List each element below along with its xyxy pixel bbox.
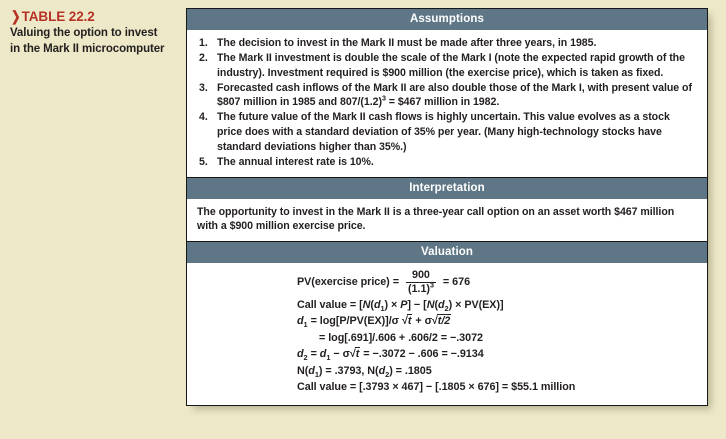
pv-result: 676 [452, 275, 470, 290]
pv-denominator-base: (1.1) [408, 283, 430, 295]
list-item: 1.The decision to invest in the Mark II … [197, 36, 697, 51]
d1-plus: + [415, 315, 421, 327]
assumptions-list: 1.The decision to invest in the Mark II … [197, 36, 697, 169]
cv-pvex: PV(EX) [464, 299, 500, 311]
d2-tail: = −.3072 − .606 = −.9134 [363, 348, 483, 360]
interpretation-body: The opportunity to invest in the Mark II… [187, 199, 707, 241]
equation-pv-exercise-price: PV(exercise price) = 900 (1.1)3 = 676 [297, 270, 597, 295]
d1-expr: log[P/PV(EX)]/σ [320, 315, 399, 327]
equation-d1-result: = log[.691]/.606 + .606/2 = −.3072 [297, 330, 597, 347]
cv-d1-close: ) [385, 299, 389, 311]
d2-sqrt-content: t [355, 347, 361, 360]
list-item-text: The Mark II investment is double the sca… [217, 52, 685, 79]
pv-equals: = [393, 275, 399, 290]
equation-call-value-formula: Call value = [N(d1) × P] − [N(d2) × PV(E… [297, 297, 597, 314]
valuation-equations: PV(exercise price) = 900 (1.1)3 = 676 Ca… [297, 270, 597, 396]
table: Assumptions 1.The decision to invest in … [186, 8, 708, 406]
table-caption: ❯TABLE 22.2 Valuing the option to invest… [10, 9, 170, 57]
list-item: 2.The Mark II investment is double the s… [197, 51, 697, 80]
list-item-number: 2. [199, 51, 213, 66]
valuation-header: Valuation [187, 241, 707, 263]
list-item: 3.Forecasted cash inflows of the Mark II… [197, 81, 697, 110]
d1-equals: = [311, 315, 317, 327]
d1-sqrt-1: √t [402, 313, 412, 330]
list-item-text: The annual interest rate is 10%. [217, 156, 374, 168]
pv-fraction: 900 (1.1)3 [406, 270, 436, 295]
table-number-label: TABLE 22.2 [22, 9, 95, 24]
pv-label: PV(exercise price) [297, 275, 390, 290]
n1-value: ) = .3793, [319, 365, 364, 377]
cv-close-bracket: ] [407, 299, 411, 311]
pv-numerator: 900 [410, 270, 432, 282]
list-item: 4.The future value of the Mark II cash f… [197, 110, 697, 154]
list-item-number: 5. [199, 155, 213, 170]
table-container: Assumptions 1.The decision to invest in … [186, 8, 708, 406]
d2-minus: − [333, 348, 339, 360]
cv-d2-close: ) [449, 299, 453, 311]
list-item-number: 3. [199, 81, 213, 96]
n1-label: N [297, 365, 305, 377]
d1-sqrt-2-content: t/2 [437, 314, 451, 327]
cv-minus: − [414, 299, 420, 311]
list-item: 5.The annual interest rate is 10%. [197, 155, 697, 170]
equation-d2: d2 = d1 − σ√t = −.3072 − .606 = −.9134 [297, 346, 597, 363]
call-value-label: Call value [297, 299, 347, 311]
d2-var-sub: 2 [304, 353, 308, 362]
pv-denominator-exponent: 3 [430, 280, 434, 289]
interpretation-header: Interpretation [187, 177, 707, 199]
d2-sigma: σ [343, 348, 350, 360]
cv-equals: = [350, 299, 356, 311]
cv-times-2: × [455, 299, 461, 311]
list-item-text-tail: = $467 million in 1982. [386, 96, 499, 108]
n2-label: N [367, 365, 375, 377]
pv-denominator: (1.1)3 [406, 282, 436, 295]
cv-times-1: × [391, 299, 397, 311]
cv-close-bracket-2: ] [500, 299, 504, 311]
list-item-text: The decision to invest in the Mark II mu… [217, 37, 596, 49]
d2-sqrt: √t [350, 346, 360, 363]
caption-marker-icon: ❯ [11, 9, 20, 24]
d2-d1-sub: 1 [326, 353, 330, 362]
valuation-body: PV(exercise price) = 900 (1.1)3 = 676 Ca… [187, 263, 707, 405]
list-item-number: 4. [199, 110, 213, 125]
d1-sqrt-1-content: t [407, 314, 413, 327]
equation-call-value-result: Call value = [.3793 × 467] − [.1805 × 67… [297, 379, 597, 396]
pv-equals-2: = [443, 275, 449, 290]
table-caption-subtitle: Valuing the option to invest in the Mark… [10, 26, 170, 57]
list-item-number: 1. [199, 36, 213, 51]
equation-d1: d1 = log[P/PV(EX)]/σ √t + σ√t/2 [297, 313, 597, 330]
interpretation-text: The opportunity to invest in the Mark II… [197, 205, 697, 234]
list-item-text: The future value of the Mark II cash flo… [217, 111, 670, 152]
d2-equals: = [311, 348, 317, 360]
d1-var-sub: 1 [304, 320, 308, 329]
table-figure-page: ❯TABLE 22.2 Valuing the option to invest… [0, 0, 726, 439]
assumptions-body: 1.The decision to invest in the Mark II … [187, 30, 707, 177]
d1-sqrt-2: √t/2 [432, 313, 451, 330]
equation-n-values: N(d1) = .3793, N(d2) = .1805 [297, 363, 597, 380]
d1-result-text: log[.691]/.606 + .606/2 = −.3072 [328, 332, 483, 344]
n2-value: ) = .1805 [389, 365, 431, 377]
d1-sigma: σ [425, 315, 432, 327]
assumptions-header: Assumptions [187, 9, 707, 30]
table-caption-title: ❯TABLE 22.2 [10, 9, 170, 24]
d1-result-equals: = [319, 332, 325, 344]
